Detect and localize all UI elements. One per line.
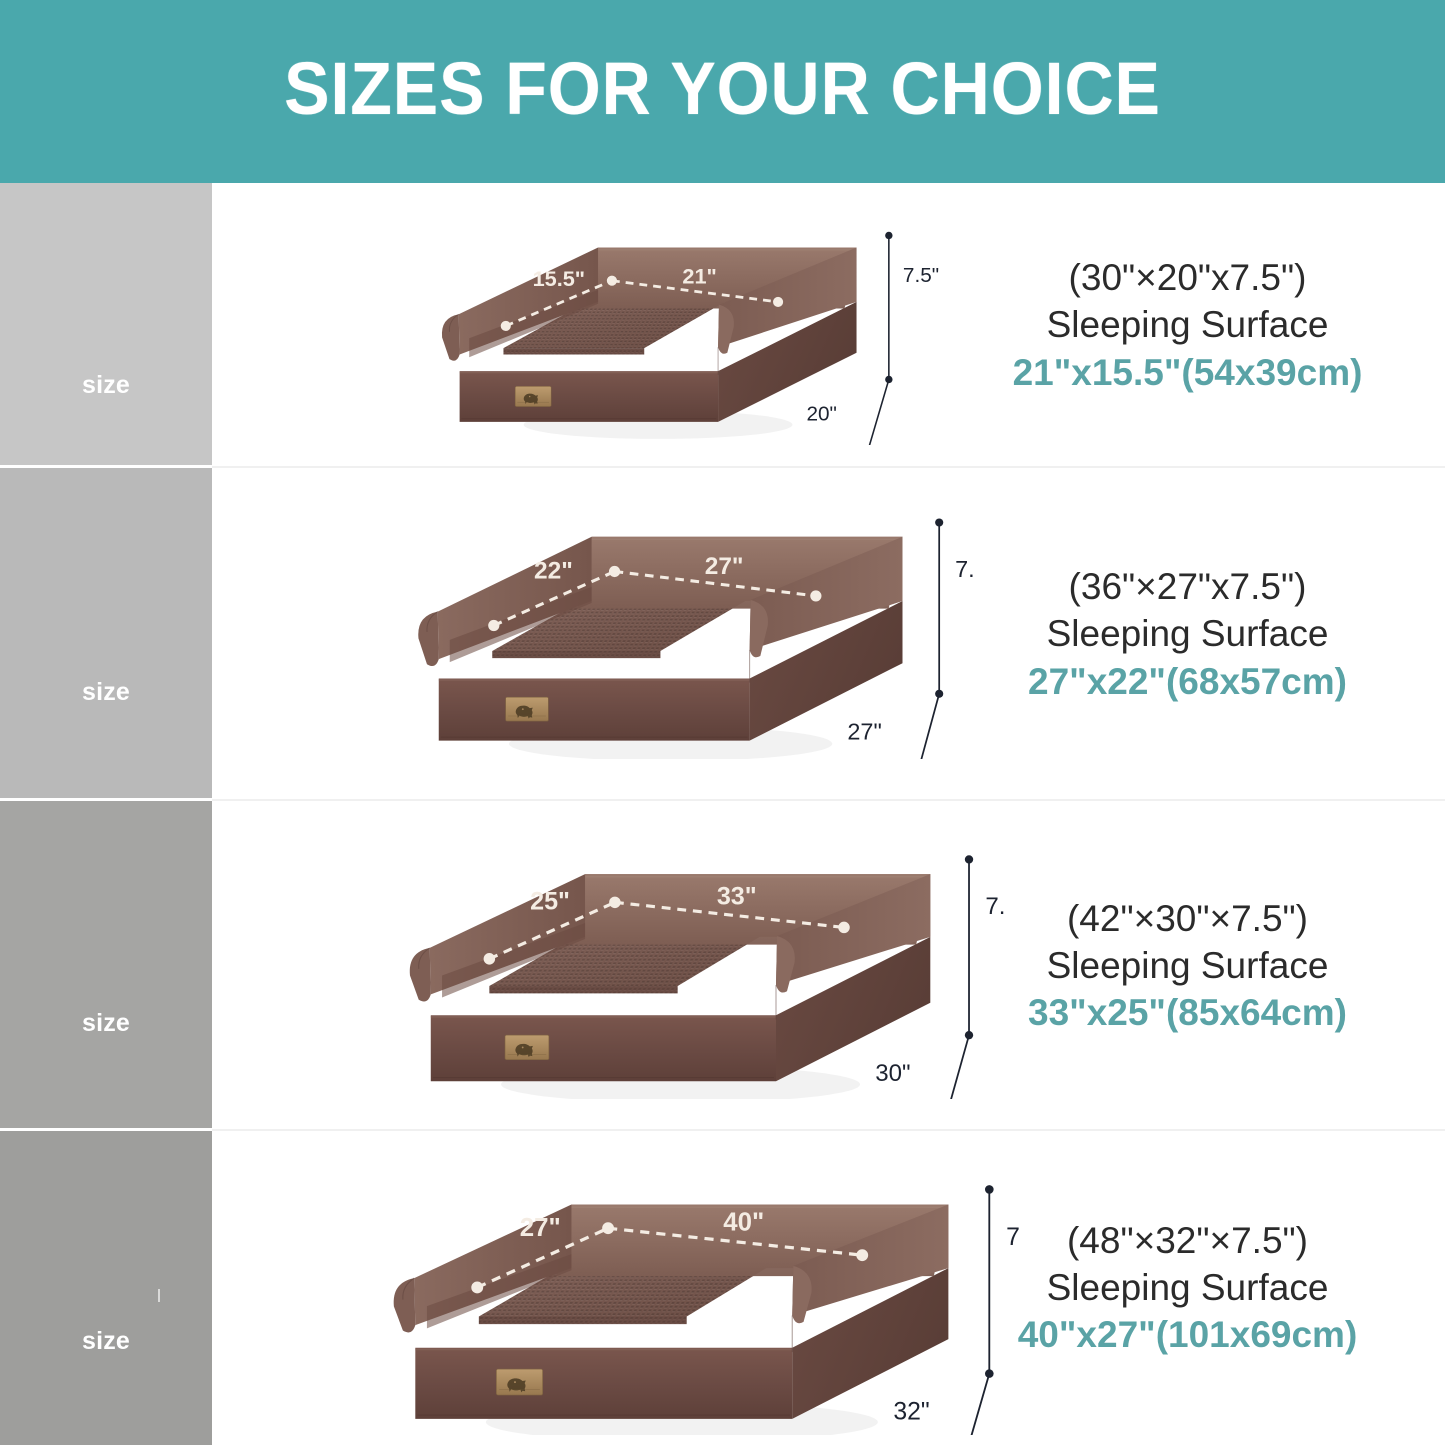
- overall-dimensions-text: (42"×30"×7.5"): [1067, 895, 1308, 942]
- size-column-label: size: [0, 678, 212, 707]
- sleeping-surface-size-text: 33"x25"(85x64cm): [1028, 989, 1347, 1037]
- dog-bed-illustration: 22" 27" 36" 27" 7.5": [300, 494, 975, 759]
- overall-dimensions-text: (36"×27"x7.5"): [1069, 563, 1307, 610]
- size-column-cell: size: [0, 183, 212, 468]
- page-title: SIZES FOR YOUR CHOICE: [284, 52, 1161, 132]
- size-spec-cell: (42"×30"×7.5")Sleeping Surface33"x25"(85…: [930, 801, 1445, 1131]
- sleeping-surface-size-text: 27"x22"(68x57cm): [1028, 658, 1347, 706]
- overall-dimensions-text: (48"×32"×7.5"): [1067, 1217, 1308, 1264]
- size-table-row: size: [0, 468, 1445, 801]
- pad-short-dimension-label: 15.5": [533, 266, 586, 291]
- pad-long-dimension-label: 40": [723, 1208, 764, 1236]
- sleeping-surface-caption: Sleeping Surface: [1047, 610, 1329, 657]
- bed-base-front: [439, 678, 750, 740]
- size-table-row: size: [0, 1131, 1445, 1445]
- size-spec-cell: (30"×20"x7.5")Sleeping Surface21"x15.5"(…: [930, 183, 1445, 468]
- size-table-row: size: [0, 183, 1445, 468]
- pad-short-dimension-label: 22": [534, 558, 573, 585]
- pad-long-dimension-label: 21": [682, 263, 716, 288]
- page-header-banner: SIZES FOR YOUR CHOICE: [0, 0, 1445, 183]
- bed-base-front: [460, 371, 718, 422]
- brand-logo-patch: [496, 1369, 542, 1395]
- sleeping-surface-caption: Sleeping Surface: [1047, 301, 1329, 348]
- pad-short-dimension-label: 27": [520, 1214, 561, 1242]
- size-column-cell: size: [0, 1131, 212, 1445]
- bed-illustration-cell: 22" 27" 36" 27" 7.5": [300, 494, 975, 759]
- sleeping-surface-size-text: 40"x27"(101x69cm): [1018, 1311, 1358, 1359]
- size-spec-cell: (36"×27"x7.5")Sleeping Surface27"x22"(68…: [930, 468, 1445, 801]
- size-column-cell: size: [0, 468, 212, 801]
- brand-logo-patch: [506, 697, 549, 721]
- sleeping-surface-size-text: 21"x15.5"(54x39cm): [1013, 349, 1363, 397]
- sleeping-surface-caption: Sleeping Surface: [1047, 1264, 1329, 1311]
- brand-logo-patch: [505, 1035, 549, 1060]
- bed-illustration-cell: 27" 40" 48" 32" 7.5": [250, 1155, 1020, 1435]
- size-table-row: size: [0, 801, 1445, 1131]
- sleeping-surface-caption: Sleeping Surface: [1047, 942, 1329, 989]
- pad-long-dimension-label: 33": [717, 882, 757, 910]
- bed-depth-label: 32": [893, 1399, 929, 1426]
- bed-base-front: [431, 1015, 776, 1081]
- pad-short-dimension-label: 25": [530, 888, 570, 916]
- dog-bed-illustration: 15.5" 21" 30" 20" 7.5": [330, 205, 940, 445]
- brand-logo-patch: [515, 386, 551, 406]
- size-table: size: [0, 183, 1445, 1445]
- size-column-label: size: [0, 1009, 212, 1038]
- bed-depth-label: 20": [806, 402, 836, 425]
- size-spec-cell: (48"×32"×7.5")Sleeping Surface40"x27"(10…: [930, 1131, 1445, 1445]
- size-column-cell: size: [0, 801, 212, 1131]
- size-column-label: size: [0, 1327, 212, 1356]
- bed-base-front: [415, 1348, 792, 1419]
- bed-illustration-cell: 25" 33" 42" 30" 7.5": [275, 827, 1005, 1099]
- dog-bed-illustration: 27" 40" 48" 32" 7.5": [250, 1155, 1020, 1435]
- bed-depth-label: 30": [875, 1060, 910, 1087]
- size-column-label: size: [0, 371, 212, 400]
- pad-long-dimension-label: 27": [705, 553, 744, 580]
- overall-dimensions-text: (30"×20"x7.5"): [1069, 254, 1307, 301]
- bed-depth-label: 27": [847, 718, 881, 744]
- bed-illustration-cell: 15.5" 21" 30" 20" 7.5": [330, 205, 940, 445]
- dog-bed-illustration: 25" 33" 42" 30" 7.5": [275, 827, 1005, 1099]
- size-cell-tick-mark: [158, 1289, 160, 1302]
